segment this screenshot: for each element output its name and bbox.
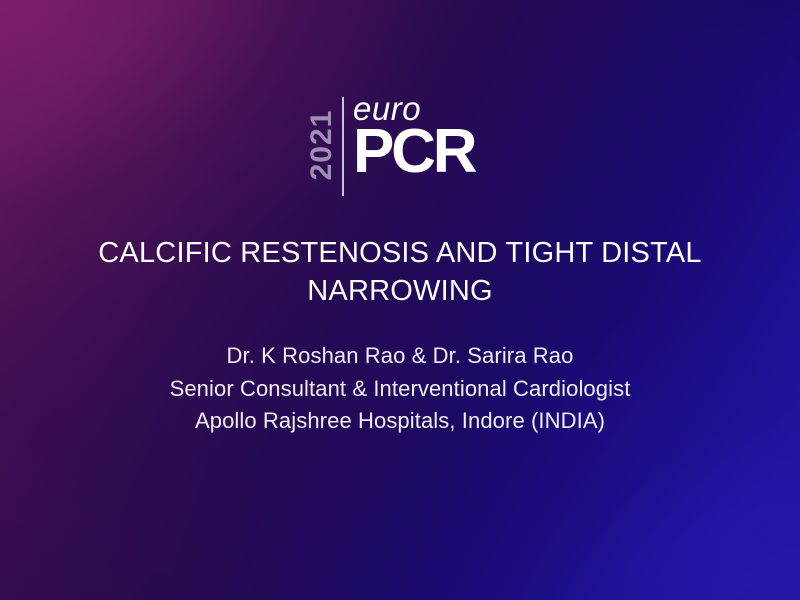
logo-pcr-text: PCR	[353, 127, 474, 178]
author-affiliation: Apollo Rajshree Hospitals, Indore (INDIA…	[40, 405, 760, 438]
author-block: Dr. K Roshan Rao & Dr. Sarira Rao Senior…	[0, 340, 800, 438]
title-slide: 2021 euro PCR CALCIFIC RESTENOSIS AND TI…	[0, 0, 800, 600]
page-title-line-2: NARROWING	[48, 272, 752, 310]
page-title-line-1: CALCIFIC RESTENOSIS AND TIGHT DISTAL	[48, 234, 752, 272]
europcr-logo: 2021 euro PCR	[302, 93, 512, 197]
author-role: Senior Consultant & Interventional Cardi…	[40, 373, 760, 406]
author-names: Dr. K Roshan Rao & Dr. Sarira Rao	[40, 340, 760, 373]
page-title: CALCIFIC RESTENOSIS AND TIGHT DISTAL NAR…	[0, 234, 800, 311]
logo-year-container: 2021	[302, 93, 342, 197]
logo-divider	[342, 97, 344, 196]
logo-wordmark: euro PCR	[353, 93, 474, 197]
logo-year-text: 2021	[307, 110, 337, 181]
